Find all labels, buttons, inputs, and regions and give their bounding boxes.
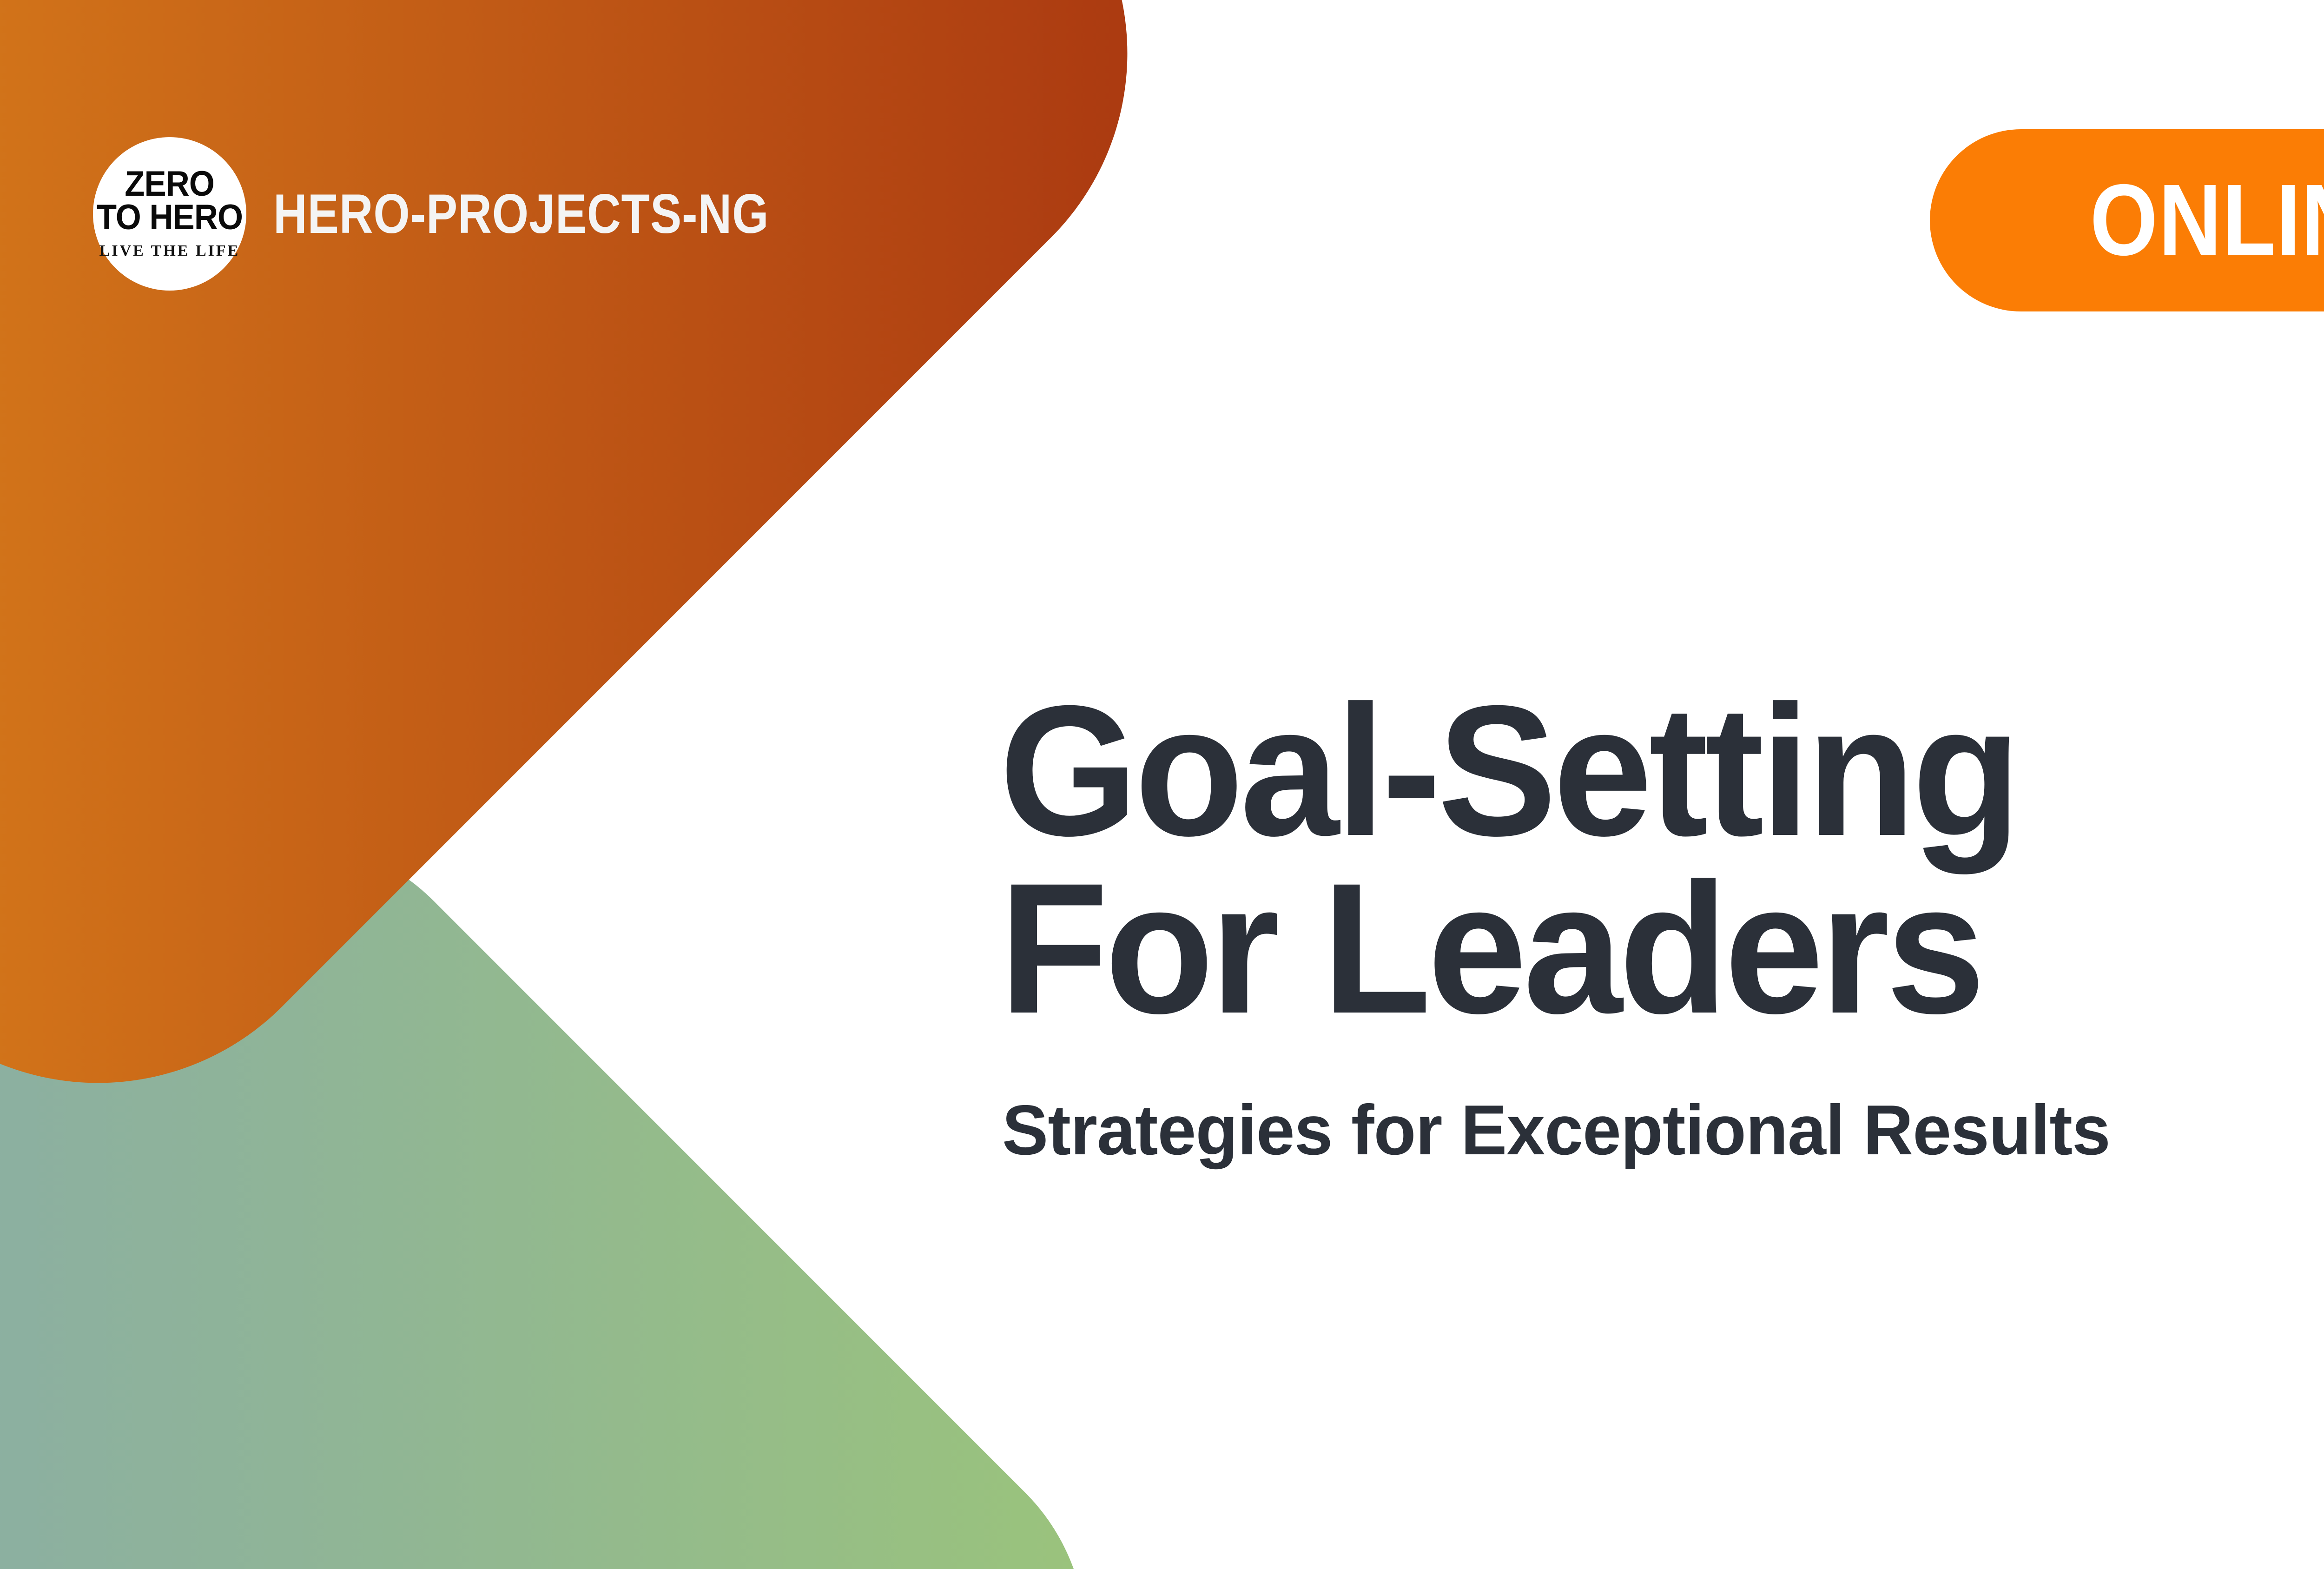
logo-tagline: LIVE THE LIFE	[99, 242, 240, 260]
page-subtitle: Strategies for Exceptional Results	[1002, 1090, 2324, 1171]
logo-line-one: ZERO	[125, 168, 215, 200]
rose-blob	[0, 338, 667, 1569]
brand-lockup[interactable]: ZERO TO HERO LIVE THE LIFE HERO-PROJECTS…	[93, 135, 863, 293]
status-badge-online[interactable]: ONLINE	[1930, 129, 2324, 311]
green-blob	[0, 753, 1173, 1569]
status-badge-label: ONLINE	[2090, 162, 2324, 278]
zero-to-hero-logo[interactable]: ZERO TO HERO LIVE THE LIFE	[93, 137, 246, 291]
headline-block: Goal-Setting For Leaders Strategies for …	[999, 683, 2324, 1171]
page-title-line-one: Goal-Setting	[999, 683, 2324, 858]
slide-canvas: ZERO TO HERO LIVE THE LIFE HERO-PROJECTS…	[0, 0, 2324, 1569]
brand-name: HERO-PROJECTS-NG	[273, 182, 769, 246]
page-title-line-two: For Leaders	[999, 861, 2324, 1036]
logo-line-two: TO HERO	[97, 201, 243, 234]
